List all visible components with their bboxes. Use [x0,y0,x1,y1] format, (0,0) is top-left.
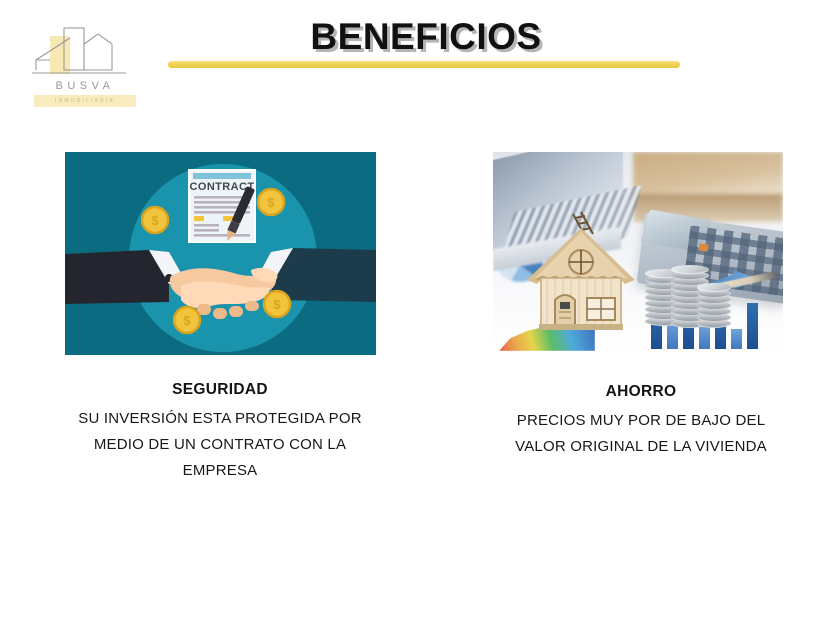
calculator-accent-key [699,243,709,251]
brand-tagline: INMOBILIARIA [34,95,136,107]
benefit-card-seguridad: CONTRACT [30,152,410,484]
svg-text:$: $ [273,297,281,312]
benefit-card-ahorro: AHORRO PRECIOS MUY POR DE BAJO DEL VALOR… [462,152,820,460]
bar-chart-print [699,325,710,349]
benefit-body-line: EMPRESA [30,458,410,484]
coin-stack [697,274,731,328]
benefit-body-line: SU INVERSIÓN ESTA PROTEGIDA POR [30,406,410,432]
photo-scene [493,152,783,357]
handshake-contract-illustration: CONTRACT [65,152,376,355]
title-underline-rule [168,61,680,68]
wood-board-background [633,152,783,200]
benefit-title: AHORRO [462,383,820,401]
benefit-body-line: PRECIOS MUY POR DE BAJO DEL [462,408,820,434]
bar-chart-print [731,329,742,349]
benefit-body-line: MEDIO DE UN CONTRATO CON LA [30,432,410,458]
benefit-caption-seguridad: SEGURIDAD SU INVERSIÓN ESTA PROTEGIDA PO… [30,381,410,484]
bar-chart-print [747,303,758,349]
house-model-savings-photo [493,152,783,357]
benefit-caption-ahorro: AHORRO PRECIOS MUY POR DE BAJO DEL VALOR… [462,383,820,460]
benefit-body-line: VALOR ORIGINAL DE LA VIVIENDA [462,434,820,460]
svg-text:$: $ [183,313,191,328]
benefit-body: PRECIOS MUY POR DE BAJO DEL VALOR ORIGIN… [462,408,820,460]
svg-text:$: $ [267,195,275,210]
brand-name: BUSVA [26,80,144,92]
building-outline-icon [26,24,144,82]
svg-text:$: $ [151,213,159,228]
slide-canvas: BUSVA INMOBILIARIA BENEFICIOS CONTRACT [0,0,840,630]
brand-logo: BUSVA INMOBILIARIA [26,24,144,108]
wooden-model-house [521,210,641,336]
benefit-body: SU INVERSIÓN ESTA PROTEGIDA POR MEDIO DE… [30,406,410,484]
benefit-title: SEGURIDAD [30,381,410,399]
page-title: BENEFICIOS [170,16,682,58]
